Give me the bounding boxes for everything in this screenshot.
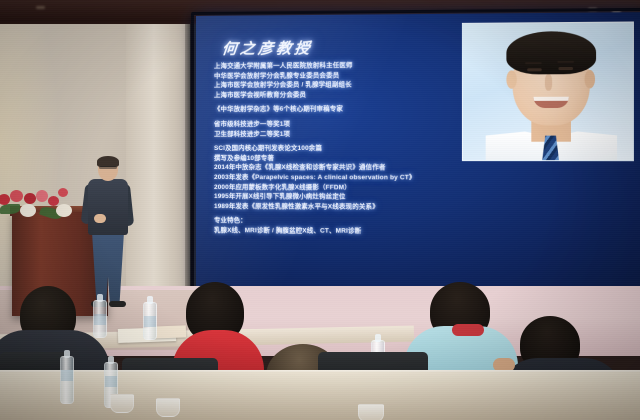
water-bottle	[60, 356, 74, 404]
slide-line: 乳腺X线、MRI诊断 / 胸腹盆腔X线、CT、MRI诊断	[214, 226, 520, 237]
portrait-eyebrow-left	[525, 62, 542, 64]
flower-arrangement	[0, 184, 84, 222]
water-bottle	[93, 300, 107, 338]
speaker-person	[80, 158, 136, 318]
flower	[36, 190, 48, 202]
portrait-nose	[545, 74, 552, 90]
ceiling-light	[588, 8, 597, 11]
slide-line: 2003年发表《Parapelvic spaces: A clinical ob…	[214, 173, 520, 183]
water-bottle	[143, 302, 157, 340]
speaker-legs	[92, 232, 124, 304]
slide-portrait-photo	[462, 21, 634, 161]
slide-line: 1995年开展X线引导下乳腺微小病灶钩丝定位	[214, 192, 520, 203]
slide-line: 1989年发表《原发性乳腺性激素水平与X线表现的关系》	[214, 202, 520, 213]
portrait-eyebrow-right	[557, 61, 574, 63]
flower	[10, 190, 23, 202]
presentation-slide: 何之彦教授 上海交通大学附属第一人民医院放射科主任医师 中华医学会放射学分会乳腺…	[196, 12, 640, 296]
flower	[58, 188, 68, 197]
portrait-hair	[506, 31, 596, 74]
audience-collar	[452, 324, 484, 336]
slide-title: 何之彦教授	[221, 37, 314, 59]
ceiling-light	[36, 6, 45, 9]
flower	[20, 204, 36, 217]
leaf	[0, 204, 20, 214]
conference-photo: 何之彦教授 上海交通大学附属第一人民医院放射科主任医师 中华医学会放射学分会乳腺…	[0, 0, 640, 420]
paper-cup	[110, 394, 134, 413]
portrait-eye-left	[527, 68, 542, 71]
paper-cup	[156, 398, 180, 417]
speaker-glasses	[99, 166, 117, 169]
flower	[48, 196, 59, 206]
speaker-shoe-right	[109, 301, 126, 307]
flower	[56, 204, 72, 217]
portrait-ear-left	[506, 70, 516, 88]
slide-line: 2014年中放杂志《乳腺X线检查和诊断专家共识》通信作者	[214, 163, 520, 173]
portrait-ear-right	[585, 70, 595, 88]
speaker-torso	[88, 179, 128, 235]
speaker-hand	[94, 214, 106, 223]
projection-screen: 何之彦教授 上海交通大学附属第一人民医院放射科主任医师 中华医学会放射学分会乳腺…	[196, 12, 640, 296]
flower	[24, 193, 36, 204]
front-table	[0, 372, 640, 420]
portrait-eye-right	[558, 67, 573, 70]
paper-cup	[358, 404, 384, 420]
